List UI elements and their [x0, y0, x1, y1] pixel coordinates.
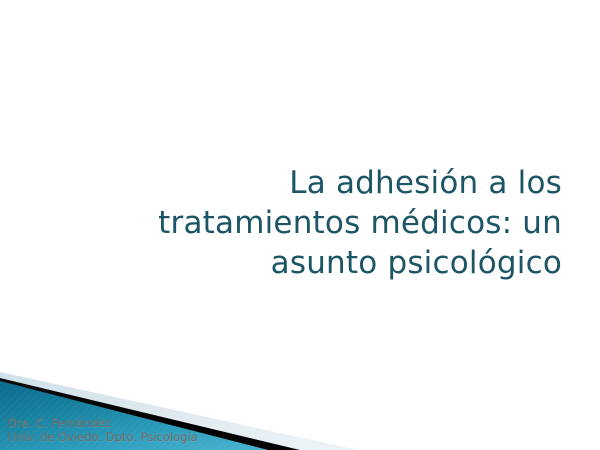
slide-title: La adhesión a los tratamientos médicos: … [62, 163, 562, 283]
slide-canvas: La adhesión a los tratamientos médicos: … [0, 0, 600, 450]
byline: Dra. C. Fernández Univ. de Oviedo. Dpto.… [8, 416, 198, 444]
byline-affiliation: Univ. de Oviedo. Dpto. Psicología [8, 430, 198, 444]
page-title: La adhesión a los tratamientos médicos: … [62, 163, 562, 283]
byline-author: Dra. C. Fernández [8, 416, 198, 430]
